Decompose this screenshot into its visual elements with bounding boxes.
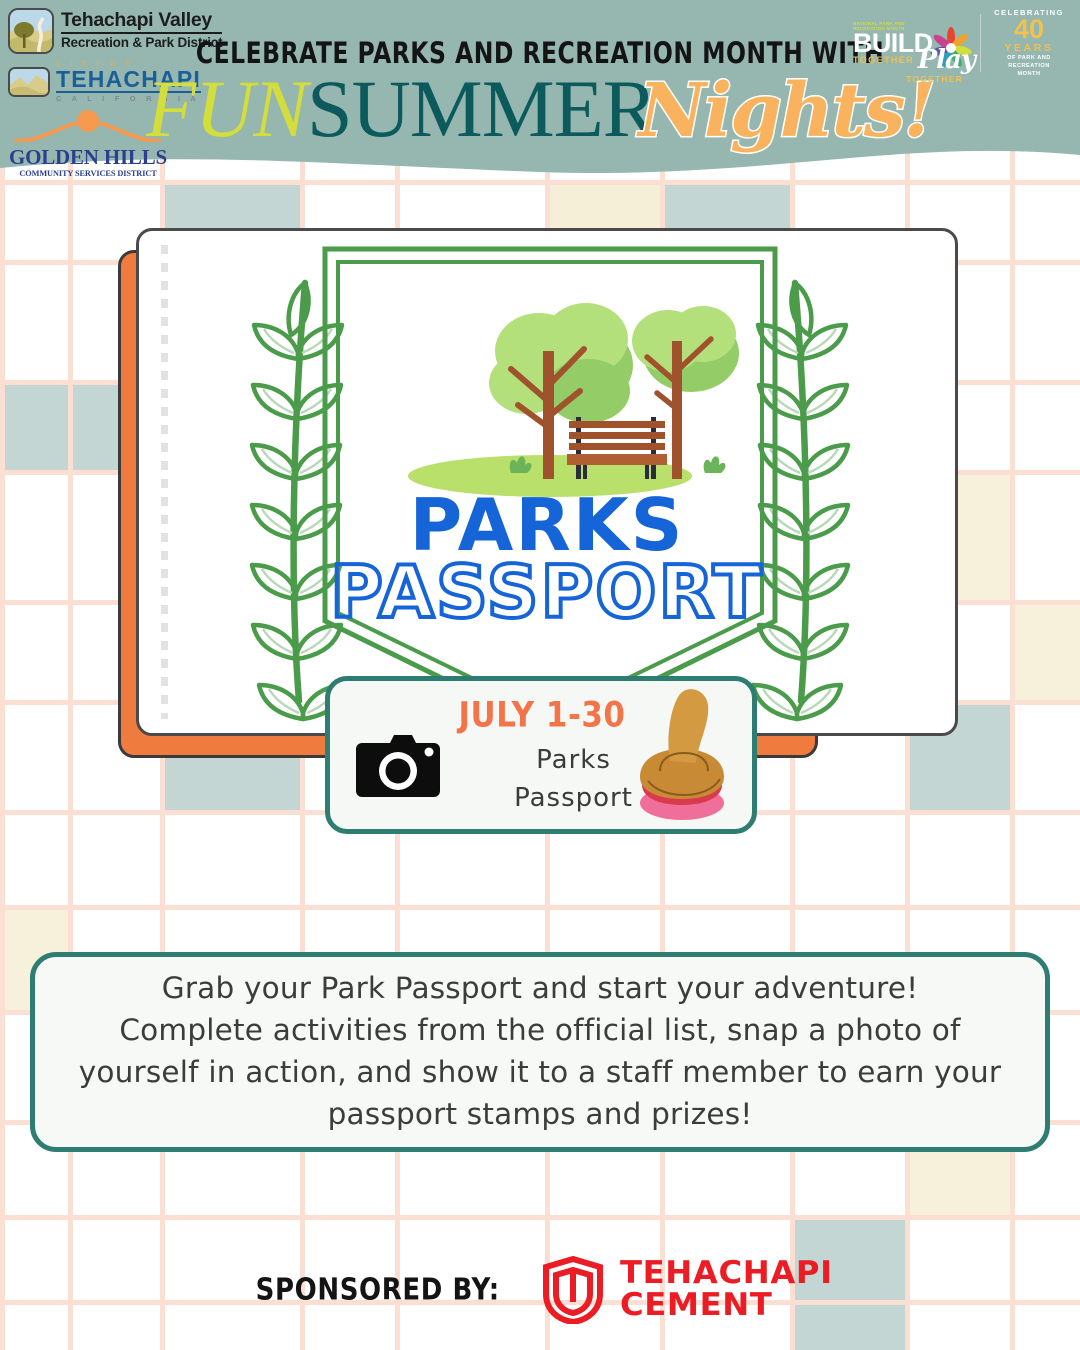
nrpa-of-text: OF PARK AND RECREATION MONTH	[990, 54, 1068, 78]
title-word-fun: FUN	[146, 63, 307, 154]
grid-cell	[1010, 600, 1080, 700]
nrpa-build-play-badge: NATIONAL PARK AND RECREATION MONTH BUILD…	[853, 8, 1068, 79]
tehachapi-cement-logo: TEHACHAPI CEMENT	[542, 1256, 825, 1324]
description-box: Grab your Park Passport and start your a…	[30, 952, 1050, 1152]
tree-left	[489, 303, 633, 479]
nrpa-anniversary-number: 40	[990, 17, 1068, 43]
nrpa-years: YEARS	[990, 43, 1068, 55]
grid-line-vertical	[0, 0, 5, 1350]
nrpa-divider	[980, 14, 981, 72]
nrpa-together-2: TOGETHER	[906, 74, 963, 84]
event-info-card: JULY 1-30 Parks Passport	[325, 676, 757, 834]
book-title-passport: PASSPORT	[139, 556, 955, 628]
title-word-summer: SUMMER	[307, 63, 656, 154]
tvrpd-name: Tehachapi Valley	[61, 10, 222, 33]
grid-line-horizontal	[0, 905, 1080, 910]
event-dates: JULY 1-30	[450, 695, 634, 735]
title-word-nights: Nights!	[638, 68, 934, 154]
book-front-page: PARKS PASSPORT	[136, 228, 958, 736]
tree-right	[632, 306, 739, 479]
cement-brand-line1: TEHACHAPI	[620, 1258, 833, 1290]
sponsor-section: SPONSORED BY: TEHACHAPI CEMENT	[0, 1255, 1080, 1325]
golden-hills-subtitle: COMMUNITY SERVICES DISTRICT	[8, 169, 168, 179]
header-banner: Tehachapi Valley Recreation & Park Distr…	[0, 0, 1080, 185]
description-text: Grab your Park Passport and start your a…	[35, 968, 1045, 1136]
grid-line-horizontal	[0, 1215, 1080, 1220]
tehachapi-cement-mark-icon	[542, 1256, 604, 1324]
sponsored-by-label: SPONSORED BY:	[256, 1273, 500, 1308]
park-scene-illustration	[408, 303, 739, 497]
cement-brand-line2: CEMENT	[620, 1290, 833, 1322]
camera-icon	[354, 733, 442, 803]
nrpa-play-text: Play	[918, 47, 975, 73]
rubber-stamp-icon	[626, 685, 744, 825]
